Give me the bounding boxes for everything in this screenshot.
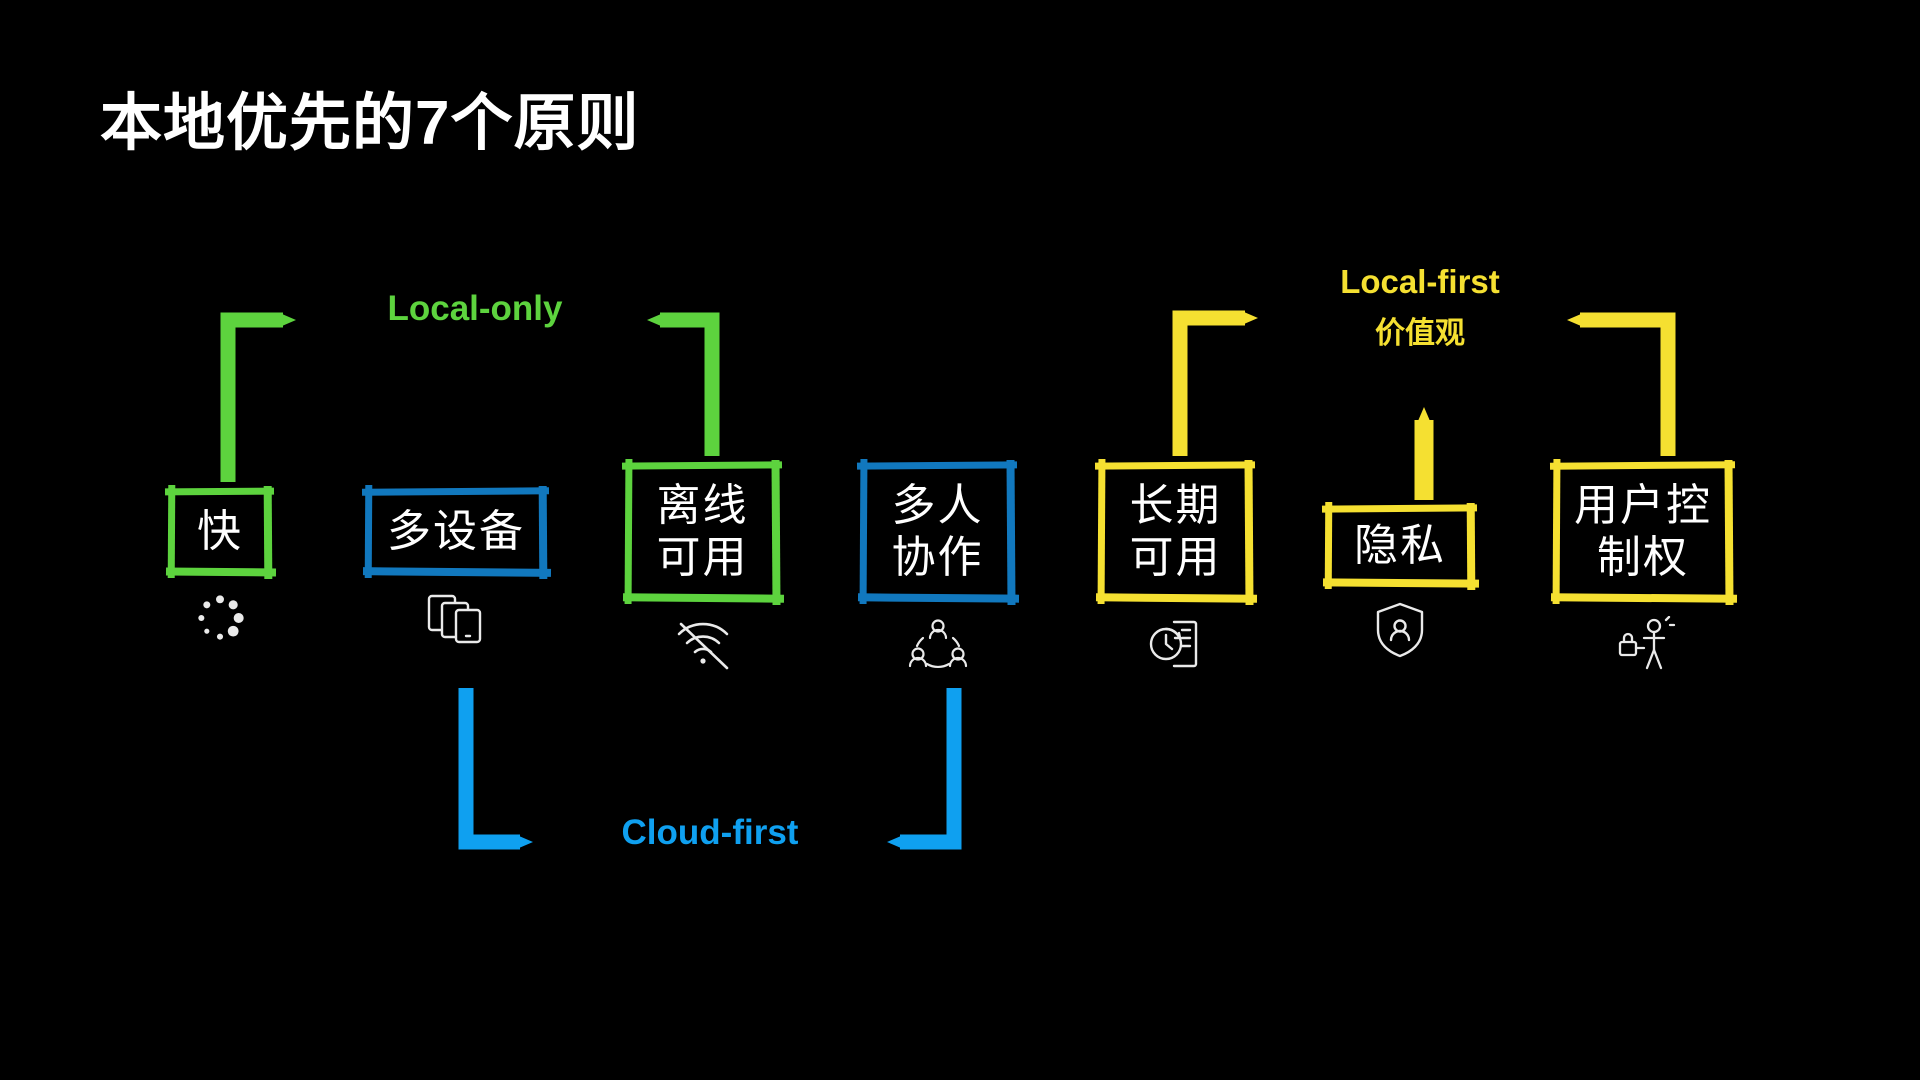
principle-card-longterm[interactable]: 长期 可用 — [1098, 462, 1253, 677]
group-label-cloud-first: Cloud-first — [610, 812, 810, 855]
arrow-longterm-to-local-first — [1180, 318, 1245, 456]
principle-card-usercontrol[interactable]: 用户控 制权 — [1553, 462, 1733, 679]
arrow-fast-to-local-only — [228, 320, 283, 482]
wifi-off-icon — [671, 616, 735, 677]
principle-label-fast: 快 — [197, 506, 243, 558]
principle-label-offline: 离线 可用 — [657, 480, 749, 584]
collaboration-icon — [907, 616, 969, 677]
principle-card-fast[interactable]: 快 — [168, 488, 272, 651]
arrow-offline-to-local-only — [660, 320, 712, 456]
group-label-local-first: Local-first 价值观 — [1325, 262, 1515, 353]
principle-card-multidevice[interactable]: 多设备 — [365, 488, 547, 651]
principle-label-longterm: 长期 可用 — [1130, 480, 1222, 584]
principle-box-privacy: 隐私 — [1325, 505, 1475, 587]
principle-label-privacy: 隐私 — [1354, 520, 1446, 572]
shield-person-icon — [1374, 601, 1426, 664]
arrow-multidevice-to-cloud-first — [466, 688, 520, 842]
principle-box-usercontrol: 用户控 制权 — [1553, 462, 1733, 602]
page-title: 本地优先的7个原则 — [100, 72, 639, 162]
arrow-usercontrol-to-local-first — [1580, 320, 1668, 456]
principle-box-collab: 多人 协作 — [860, 462, 1015, 602]
group-label-local-only: Local-only — [380, 288, 570, 331]
principle-label-usercontrol: 用户控 制权 — [1574, 480, 1712, 584]
principle-box-longterm: 长期 可用 — [1098, 462, 1253, 602]
principle-card-offline[interactable]: 离线 可用 — [625, 462, 780, 677]
group-label-local-first-en: Local-first — [1325, 262, 1515, 302]
user-control-icon — [1610, 616, 1676, 679]
principle-box-offline: 离线 可用 — [625, 462, 780, 602]
principle-card-privacy[interactable]: 隐私 — [1325, 505, 1475, 664]
group-label-local-first-cn: 价值观 — [1325, 316, 1515, 353]
principle-box-fast: 快 — [168, 488, 272, 576]
arrow-collab-to-cloud-first — [900, 688, 954, 842]
document-clock-icon — [1146, 616, 1206, 677]
principle-card-collab[interactable]: 多人 协作 — [860, 462, 1015, 677]
spinner-icon — [192, 590, 248, 651]
principle-label-collab: 多人 协作 — [892, 480, 984, 584]
devices-icon — [425, 590, 487, 651]
principle-box-multidevice: 多设备 — [365, 488, 547, 576]
principle-label-multidevice: 多设备 — [387, 506, 525, 558]
